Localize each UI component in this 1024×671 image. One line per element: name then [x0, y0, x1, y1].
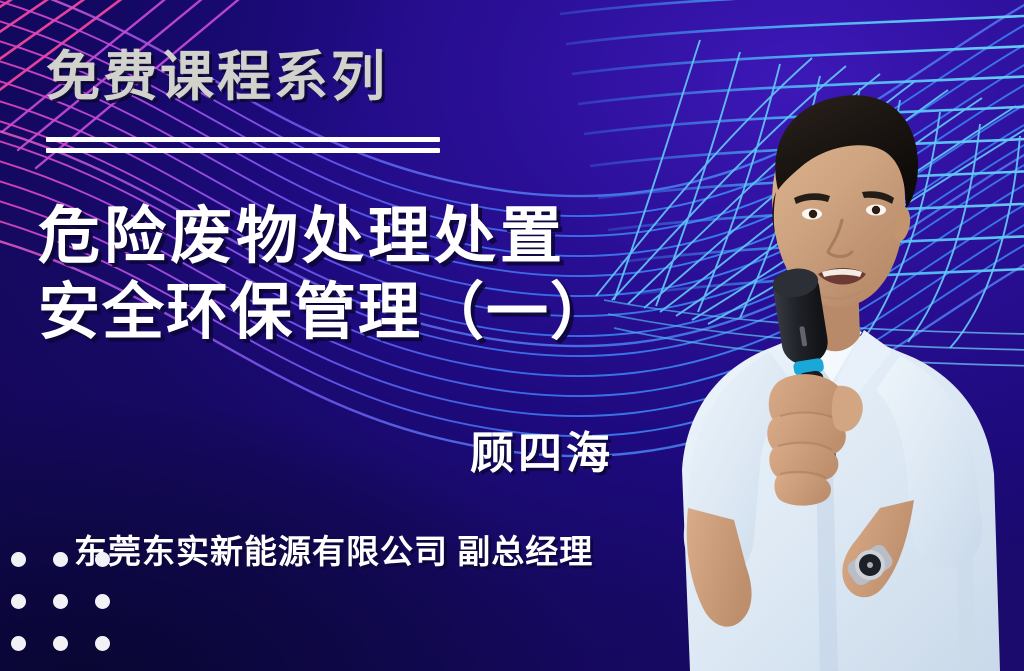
title-divider: [46, 137, 440, 153]
dot: [95, 552, 110, 567]
dot: [53, 636, 68, 651]
dot: [11, 636, 26, 651]
dot: [11, 594, 26, 609]
divider-line-bottom: [46, 148, 440, 153]
title-line-2: 安全环保管理（一）: [38, 276, 718, 352]
speaker-affiliation: 东莞东实新能源有限公司 副总经理: [74, 537, 593, 570]
course-cover-poster: 免费课程系列 危险废物处理处置 安全环保管理（一） 顾四海 东莞东实新能源有限公…: [0, 0, 1024, 671]
poster-content: 免费课程系列 危险废物处理处置 安全环保管理（一） 顾四海 东莞东实新能源有限公…: [0, 0, 1024, 671]
dot: [53, 552, 68, 567]
series-kicker: 免费课程系列: [46, 50, 388, 104]
dot: [95, 636, 110, 651]
title-line-1: 危险废物处理处置: [38, 200, 718, 276]
dot: [53, 594, 68, 609]
dot: [11, 552, 26, 567]
dot: [95, 594, 110, 609]
speaker-name: 顾四海: [0, 432, 614, 476]
divider-line-top: [46, 137, 440, 142]
dot-grid-decoration: [11, 552, 137, 671]
page-title: 危险废物处理处置 安全环保管理（一）: [38, 200, 718, 351]
